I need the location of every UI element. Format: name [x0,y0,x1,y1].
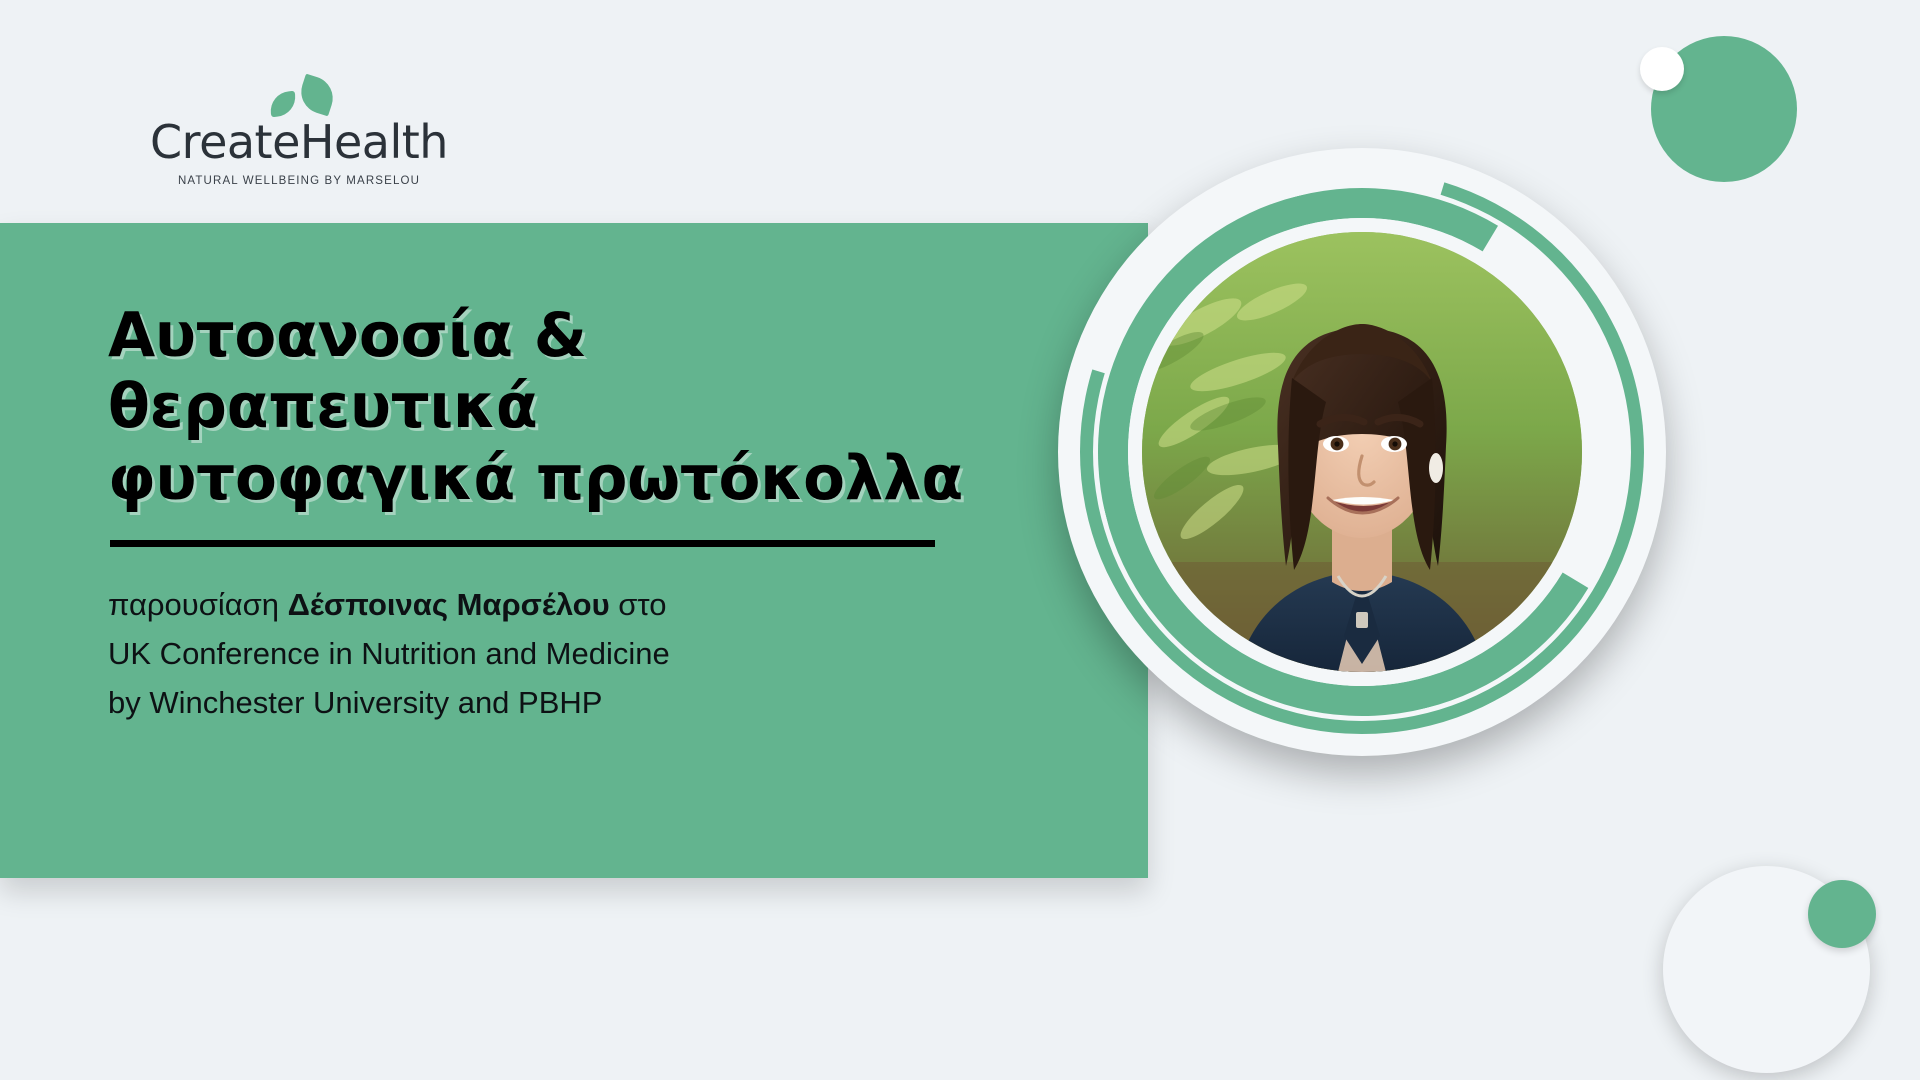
title-line-3: φυτοφαγικά πρωτόκολλα [108,443,1058,514]
title-line-1: Αυτοανοσία & [108,300,1058,371]
avatar [1142,232,1582,672]
text-content: Αυτοανοσία & θεραπευτικά φυτοφαγικά πρωτ… [108,300,1058,728]
leaf-right-icon [296,74,339,117]
subtitle-line-2: UK Conference in Nutrition and Medicine [108,630,1058,679]
logo-wordmark: CreateHealth [134,118,464,166]
subtitle-line-3: by Winchester University and PBHP [108,679,1058,728]
subtitle-line-1: παρουσίαση Δέσποινας Μαρσέλου στο [108,581,1058,630]
page-title: Αυτοανοσία & θεραπευτικά φυτοφαγικά πρωτ… [108,300,1058,514]
subtitle-suffix: στο [610,587,667,622]
brand-logo: CreateHealth NATURAL WELLBEING BY MARSEL… [134,78,474,187]
logo-tagline: NATURAL WELLBEING BY MARSELOU [134,175,464,187]
slide-canvas: CreateHealth NATURAL WELLBEING BY MARSEL… [0,0,1920,1080]
subtitle: παρουσίαση Δέσποινας Μαρσέλου στο UK Con… [108,581,1058,728]
decor-circle-top-right-white [1640,47,1684,91]
speaker-name: Δέσποινας Μαρσέλου [288,587,610,622]
leaf-icon [134,78,474,118]
title-line-2: θεραπευτικά [108,371,1058,442]
subtitle-prefix: παρουσίαση [108,587,288,622]
title-divider [110,540,935,547]
decor-circle-bottom-right-green [1808,880,1876,948]
leaf-left-icon [269,91,297,118]
portrait-medallion [1058,148,1666,756]
